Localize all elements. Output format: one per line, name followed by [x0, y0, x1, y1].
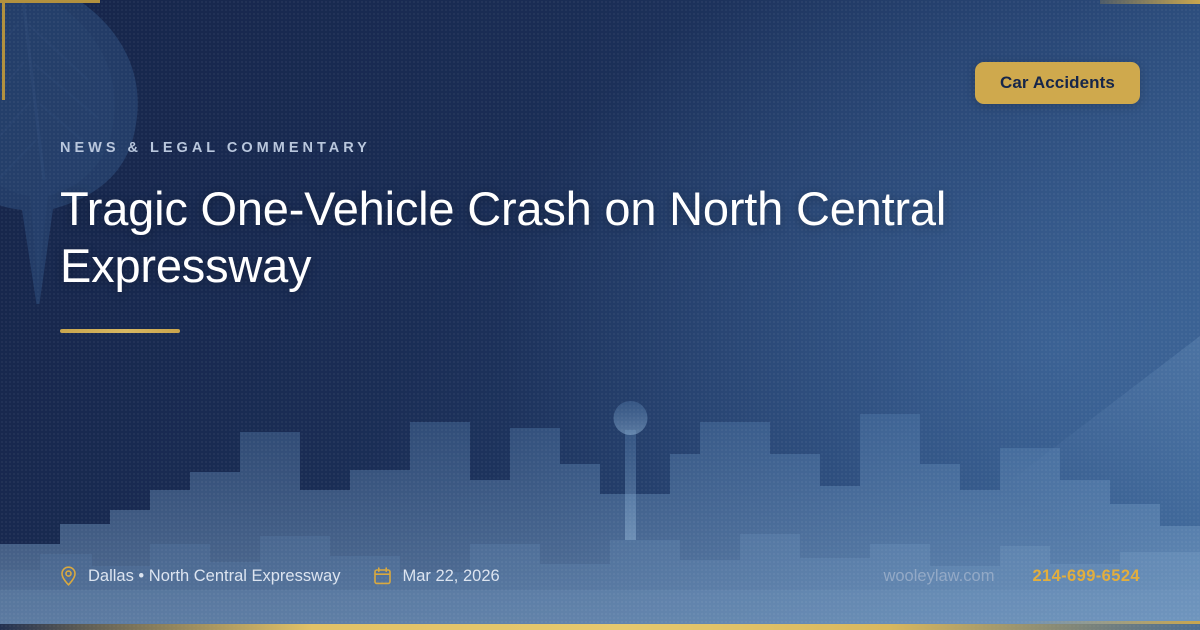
calendar-icon — [374, 567, 391, 585]
corner-light-wedge — [860, 336, 1200, 596]
dallas-skyline-silhouette — [0, 394, 1200, 624]
location-meta: Dallas • North Central Expressway — [60, 566, 340, 586]
footer-bar: Dallas • North Central Expressway Mar 22… — [60, 566, 1140, 586]
bottom-gold-bar — [0, 624, 1200, 630]
gold-bracket-top-left-vertical — [2, 0, 5, 100]
date-meta: Mar 22, 2026 — [374, 567, 499, 586]
footer-meta-group: Dallas • North Central Expressway Mar 22… — [60, 566, 500, 586]
category-badge[interactable]: Car Accidents — [975, 62, 1140, 104]
location-text: Dallas • North Central Expressway — [88, 567, 340, 586]
website-text[interactable]: wooleylaw.com — [883, 567, 994, 586]
gold-bracket-top-right — [1100, 0, 1200, 4]
footer-contact-group: wooleylaw.com 214-699-6524 — [883, 567, 1140, 586]
eyebrow-label: News & Legal Commentary — [60, 140, 1070, 156]
page-title: Tragic One-Vehicle Crash on North Centra… — [60, 180, 1040, 295]
gold-bracket-top-left-horizontal — [0, 0, 100, 3]
social-card: Car Accidents News & Legal Commentary Tr… — [0, 0, 1200, 630]
date-text: Mar 22, 2026 — [402, 567, 499, 586]
map-pin-icon — [60, 566, 77, 586]
phone-number[interactable]: 214-699-6524 — [1032, 567, 1140, 586]
gold-accent-rule — [60, 329, 180, 333]
headline-block: News & Legal Commentary Tragic One-Vehic… — [60, 140, 1070, 333]
